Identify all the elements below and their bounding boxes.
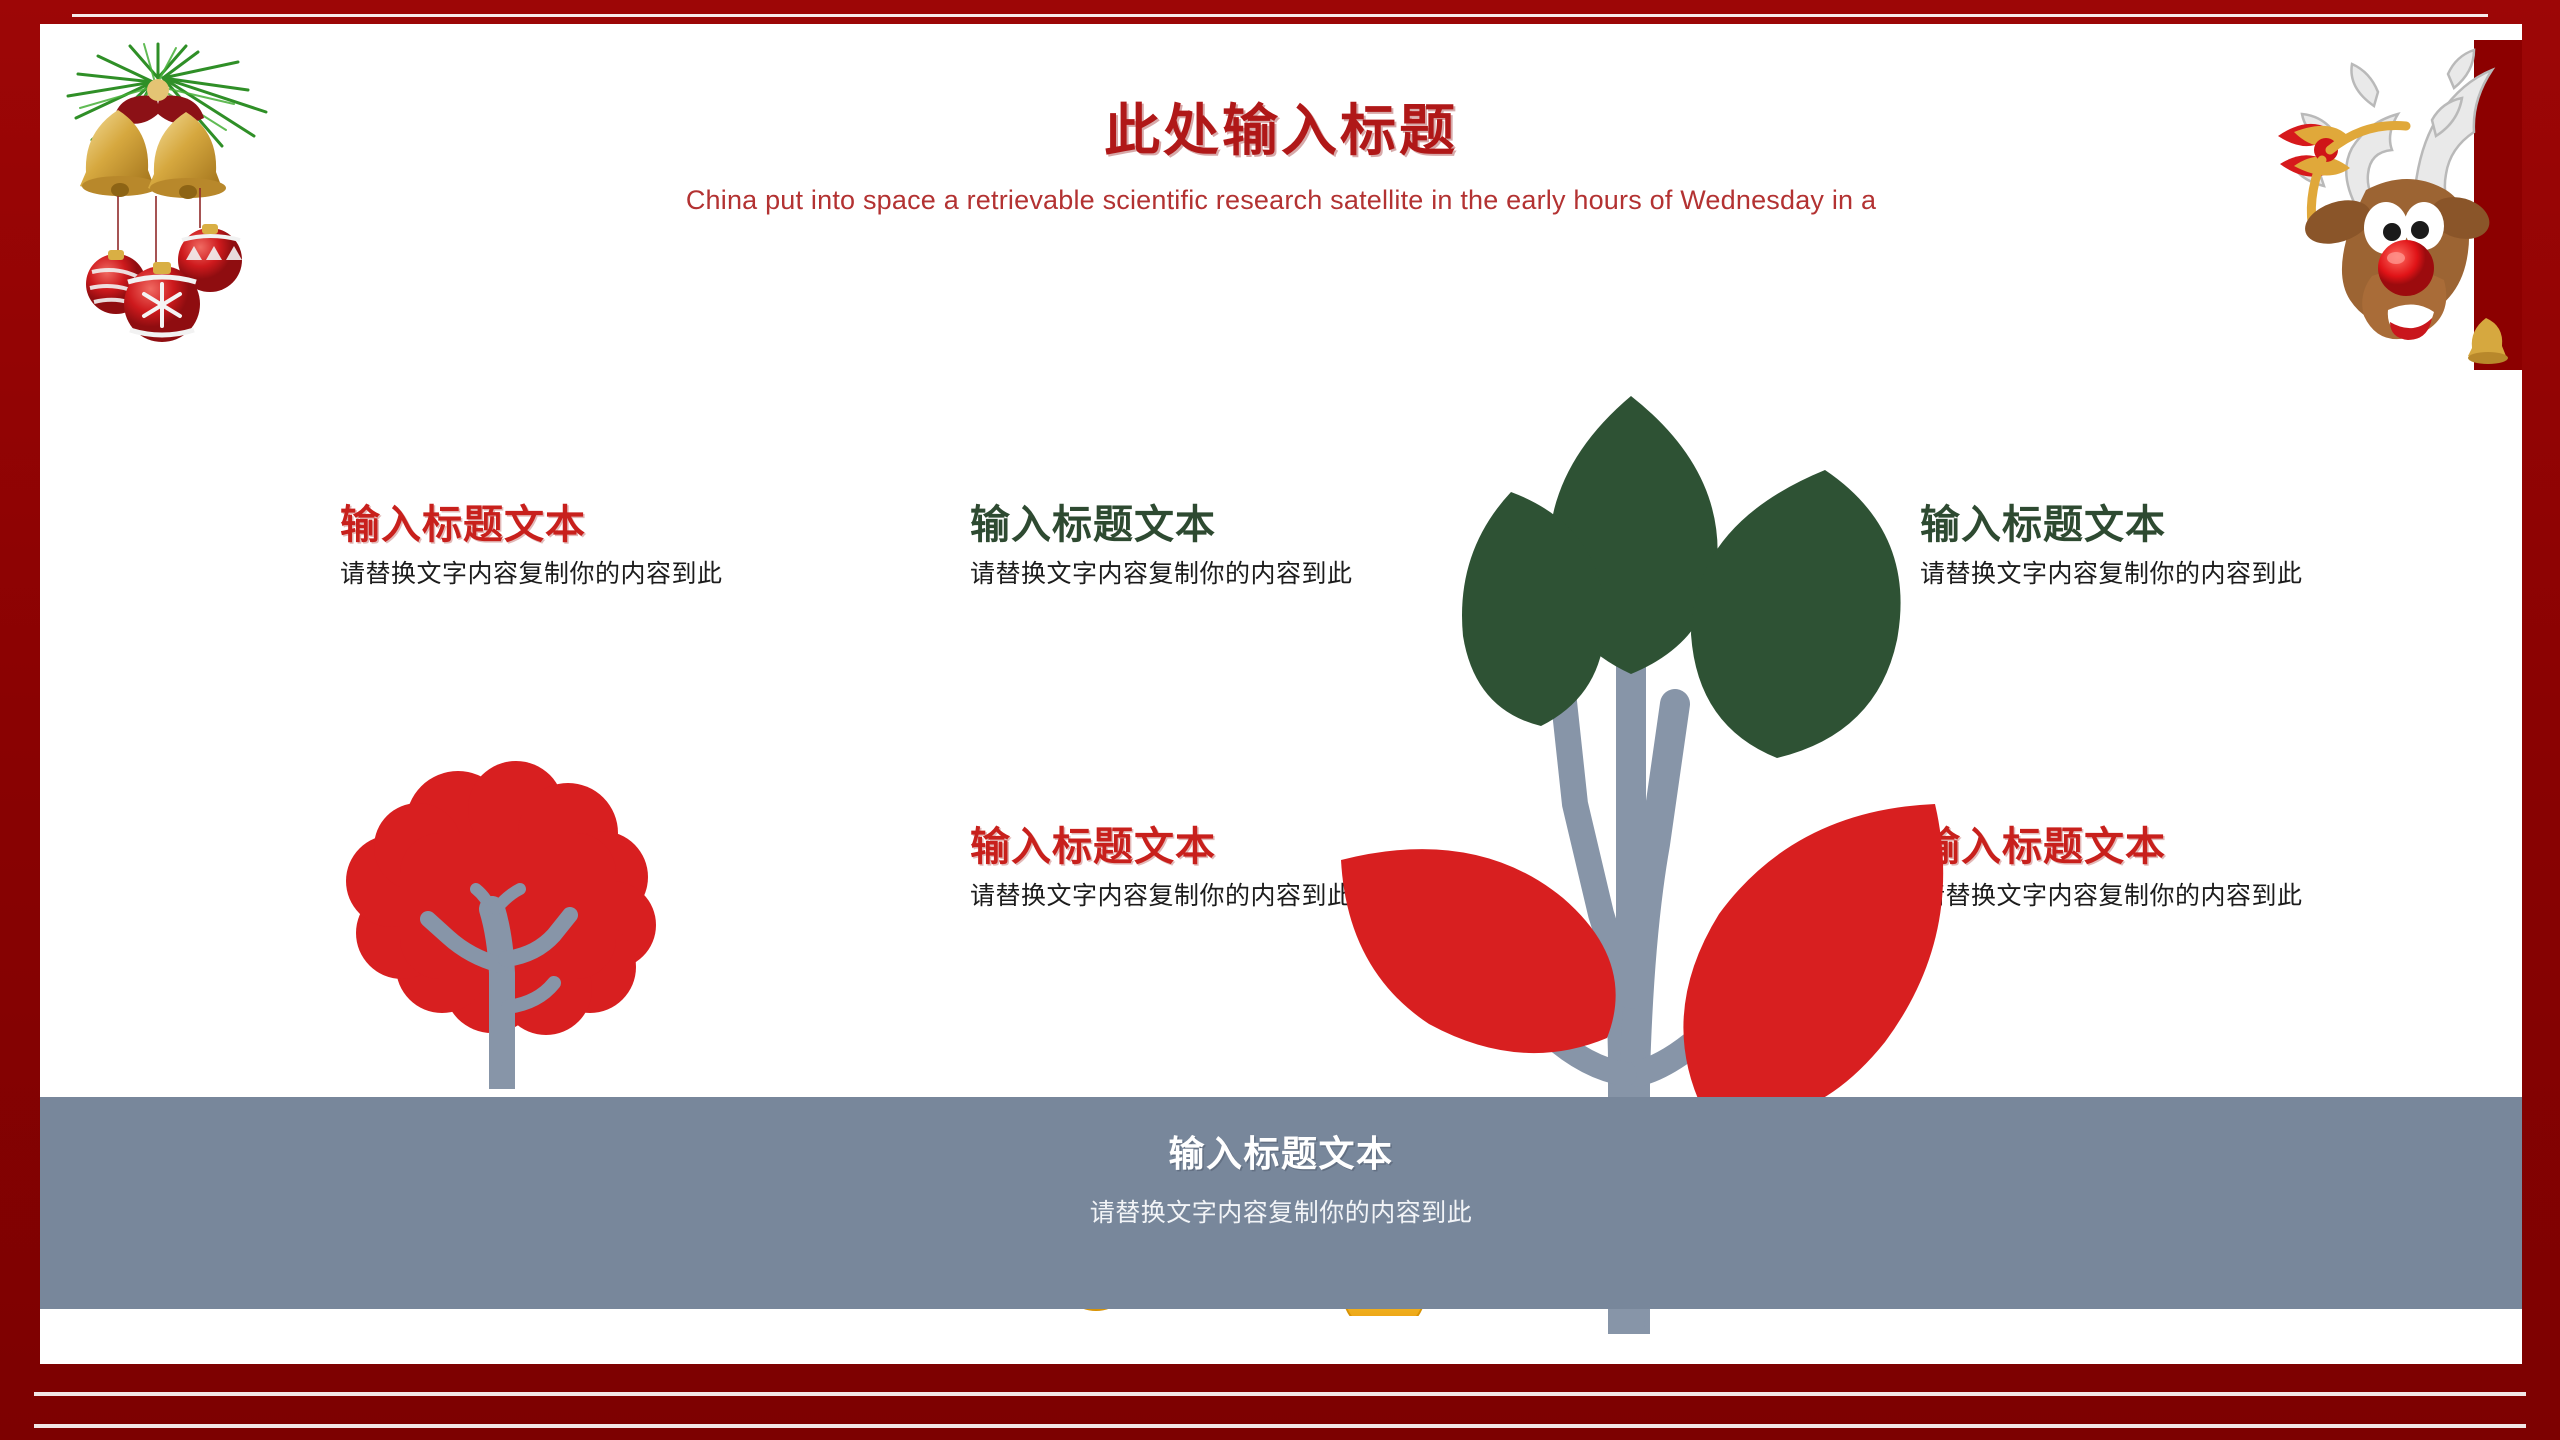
content-block-3: 输入标题文本 请替换文字内容复制你的内容到此 — [1920, 502, 2440, 591]
block-heading: 输入标题文本 — [1920, 502, 2440, 548]
banner-heading: 输入标题文本 — [40, 1097, 2522, 1177]
slide-canvas: 此处输入标题 China put into space a retrievabl… — [40, 24, 2522, 1364]
block-body: 请替换文字内容复制你的内容到此 — [340, 558, 860, 591]
block-body: 请替换文字内容复制你的内容到此 — [1920, 558, 2440, 591]
content-block-1: 输入标题文本 请替换文字内容复制你的内容到此 — [340, 502, 860, 591]
banner-body: 请替换文字内容复制你的内容到此 — [40, 1193, 2522, 1229]
bottom-banner: 输入标题文本 请替换文字内容复制你的内容到此 — [40, 1097, 2522, 1309]
frame-bottom-line-1 — [34, 1392, 2526, 1396]
reindeer-icon — [2238, 40, 2522, 370]
content-block-5: 输入标题文本 请替换文字内容复制你的内容到此 — [1920, 824, 2440, 913]
block-body: 请替换文字内容复制你的内容到此 — [1920, 880, 2440, 913]
frame-top-line — [72, 14, 2488, 17]
page-title: 此处输入标题 — [40, 24, 2522, 167]
christmas-bells-icon — [58, 38, 358, 378]
block-heading: 输入标题文本 — [340, 502, 860, 548]
block-heading: 输入标题文本 — [1920, 824, 2440, 870]
red-tree-icon — [340, 759, 670, 1089]
page-subtitle: China put into space a retrievable scien… — [40, 185, 2522, 216]
slide-frame: 此处输入标题 China put into space a retrievabl… — [0, 0, 2560, 1440]
slide-header: 此处输入标题 China put into space a retrievabl… — [40, 24, 2522, 216]
frame-bottom-line-2 — [34, 1424, 2526, 1428]
